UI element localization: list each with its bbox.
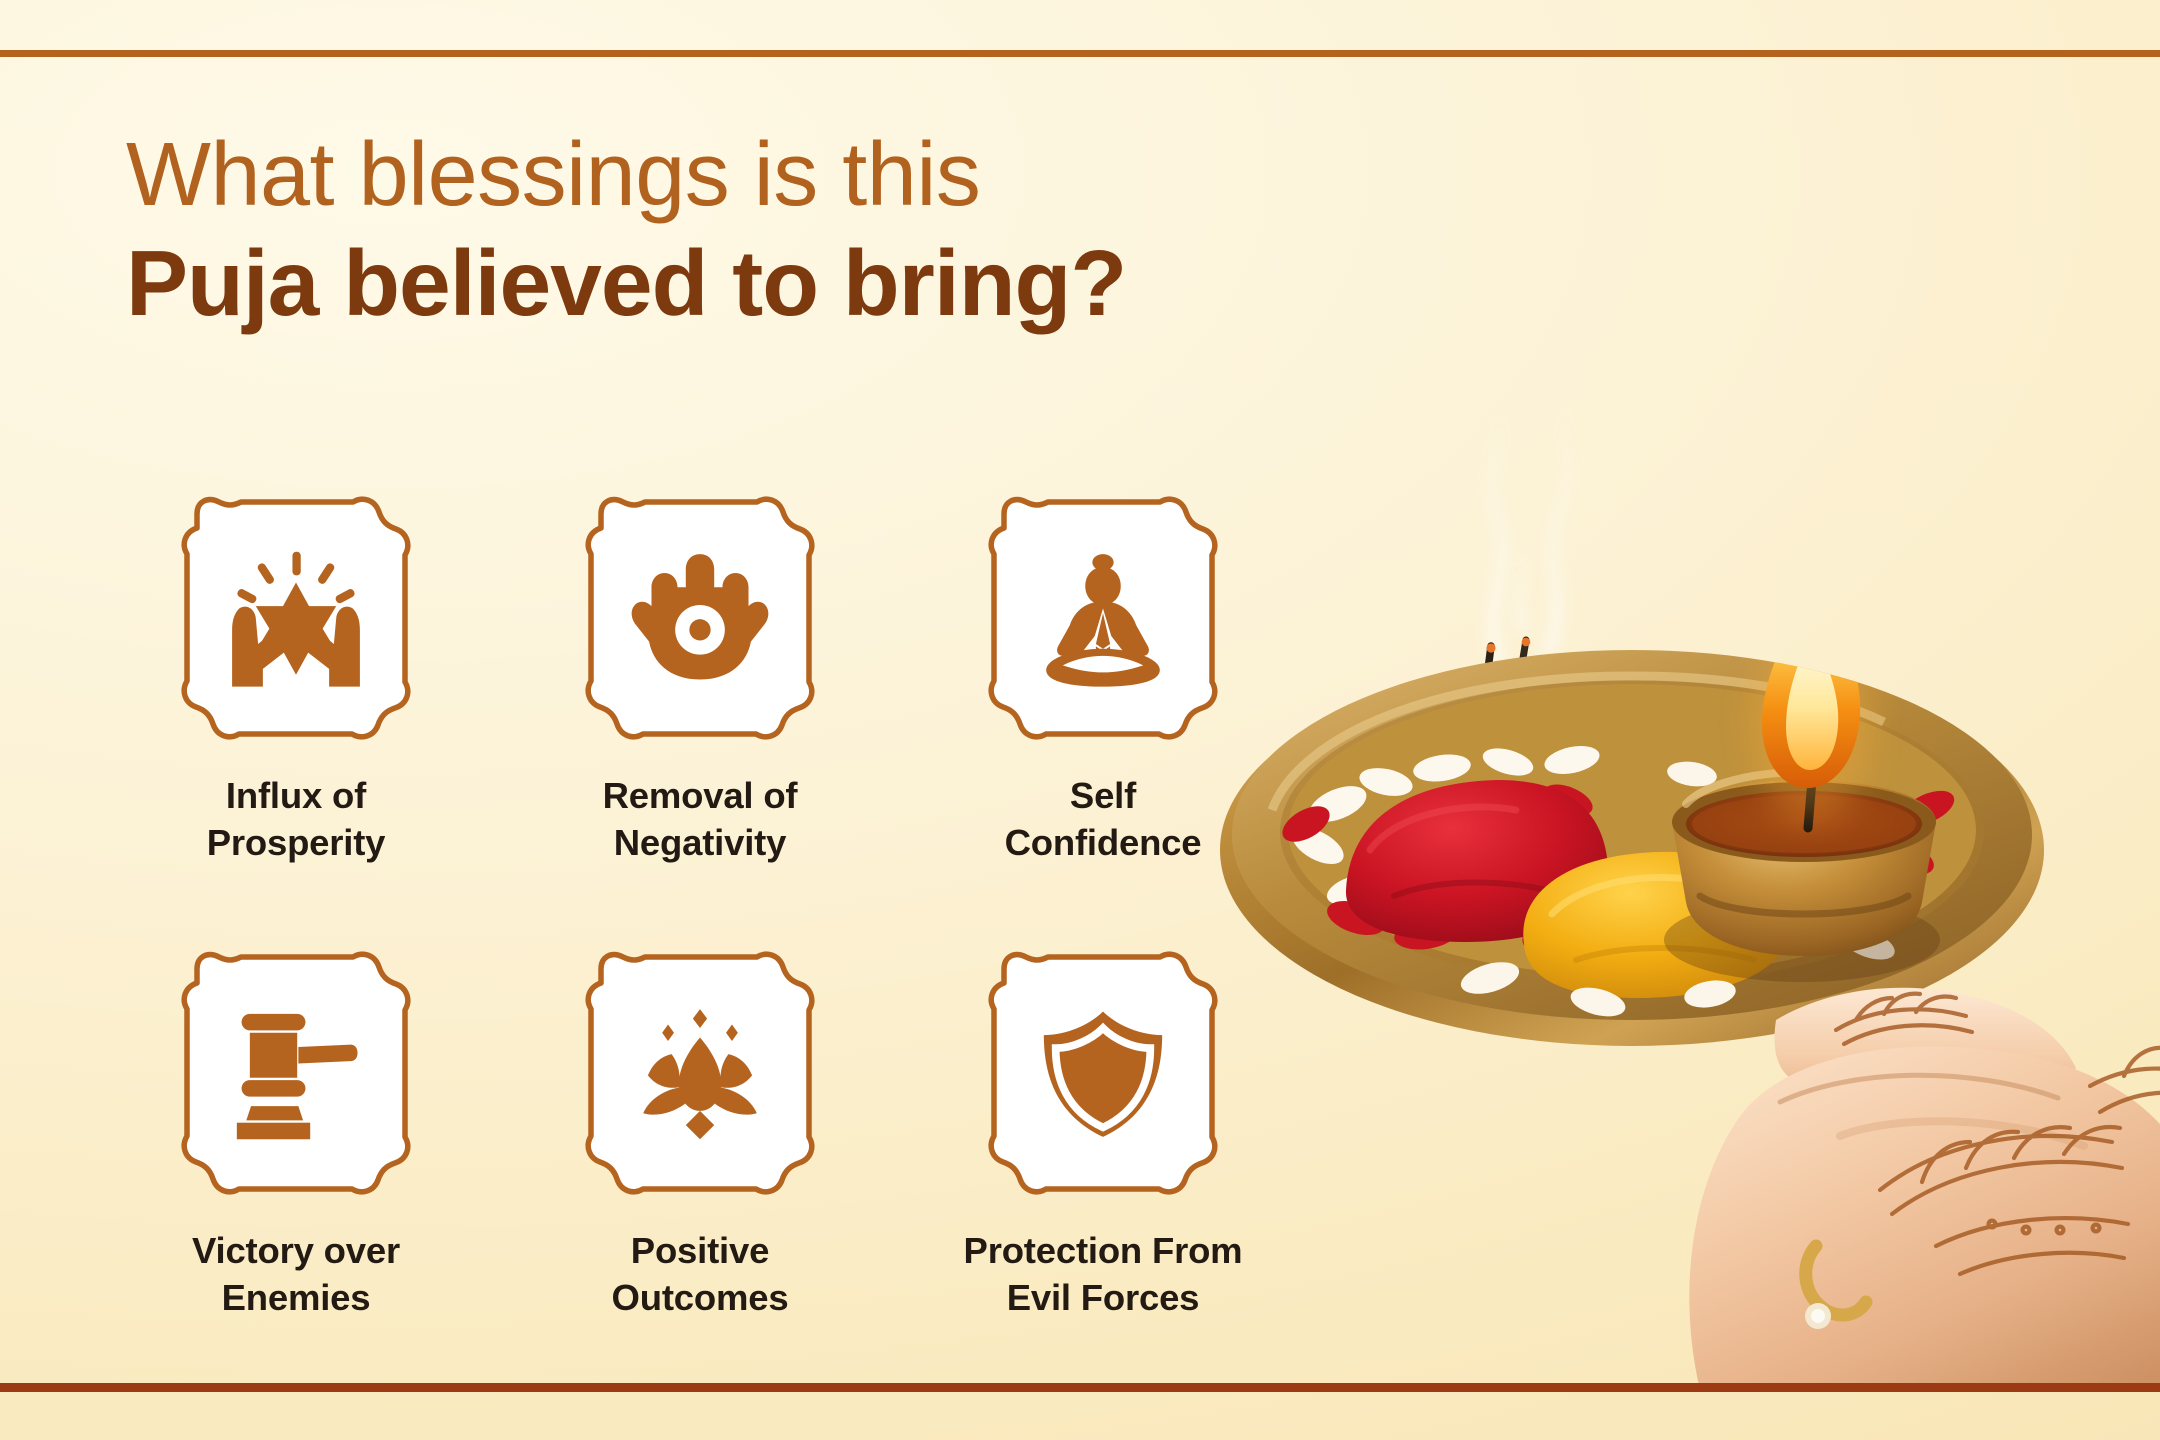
icon-card-frame [970,947,1236,1199]
henna-mehndi-hand [1689,988,2160,1390]
meditating-person-icon [970,492,1236,744]
blessing-item-prosperity: Influx of Prosperity [96,492,496,947]
blessing-item-positive: Positive Outcomes [496,947,896,1402]
icon-card-frame [970,492,1236,744]
blessing-item-protection: Protection From Evil Forces [896,947,1296,1402]
blessing-label: Removal of Negativity [603,772,798,867]
icon-card-frame [567,492,833,744]
gavel-icon [163,947,429,1199]
blessing-label: Positive Outcomes [612,1227,789,1322]
blessing-label: Self Confidence [1005,772,1202,867]
diya-flame [1750,582,1874,818]
headline-line-2: Puja believed to bring? [126,231,1326,335]
icon-card-frame [567,947,833,1199]
hands-holding-star-icon [163,492,429,744]
poster-root: What blessings is this Puja believed to … [0,0,2160,1440]
blessing-item-victory: Victory over Enemies [96,947,496,1402]
top-divider-rule [0,50,2160,57]
blessing-label: Influx of Prosperity [207,772,386,867]
icon-card-frame [163,492,429,744]
shield-icon [970,947,1236,1199]
blessings-grid: Influx of Prosperity Removal of Negativi… [96,492,1296,1402]
incense-smoke [1492,394,1570,660]
blessing-item-confidence: Self Confidence [896,492,1296,947]
hamsa-hand-eye-icon [567,492,833,744]
icon-card-frame [163,947,429,1199]
bottom-divider-rule [0,1383,2160,1392]
blessing-label: Victory over Enemies [192,1227,400,1322]
puja-thali-photo [1180,330,2160,1390]
blessing-label: Protection From Evil Forces [964,1227,1243,1322]
headline: What blessings is this Puja believed to … [126,128,1326,336]
blessing-item-negativity: Removal of Negativity [496,492,896,947]
lotus-flower-icon [567,947,833,1199]
headline-line-1: What blessings is this [126,128,1326,223]
